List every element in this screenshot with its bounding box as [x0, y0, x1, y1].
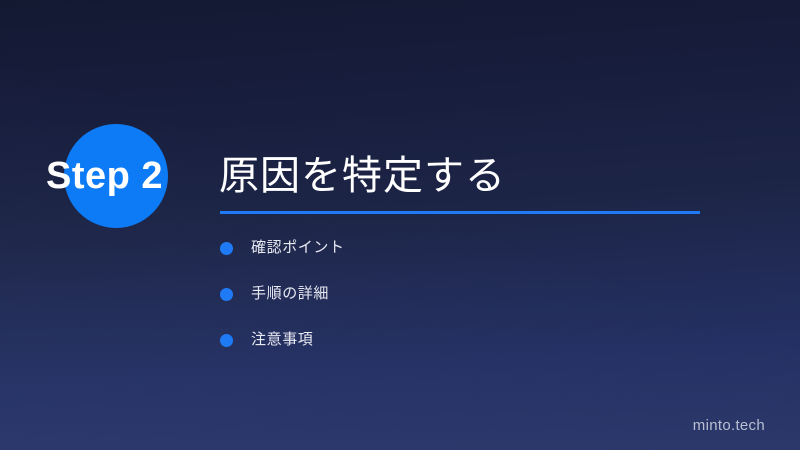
list-item: 確認ポイント — [220, 236, 690, 260]
bullet-dot-icon — [220, 242, 233, 255]
list-item-label: 注意事項 — [251, 328, 313, 352]
list-item: 手順の詳細 — [220, 282, 690, 306]
step-number-label: Step 2 — [46, 152, 216, 200]
presentation-slide: Step 2 原因を特定する 確認ポイント 手順の詳細 注意事項 minto.t… — [0, 0, 800, 450]
title-divider — [220, 211, 700, 214]
slide-title: 原因を特定する — [219, 147, 506, 205]
bullet-dot-icon — [220, 334, 233, 347]
list-item-label: 手順の詳細 — [251, 282, 329, 306]
bullet-dot-icon — [220, 288, 233, 301]
list-item-label: 確認ポイント — [251, 236, 345, 260]
bullet-list: 確認ポイント 手順の詳細 注意事項 — [220, 236, 690, 374]
watermark-brand: minto.tech — [693, 417, 765, 434]
list-item: 注意事項 — [220, 328, 690, 352]
